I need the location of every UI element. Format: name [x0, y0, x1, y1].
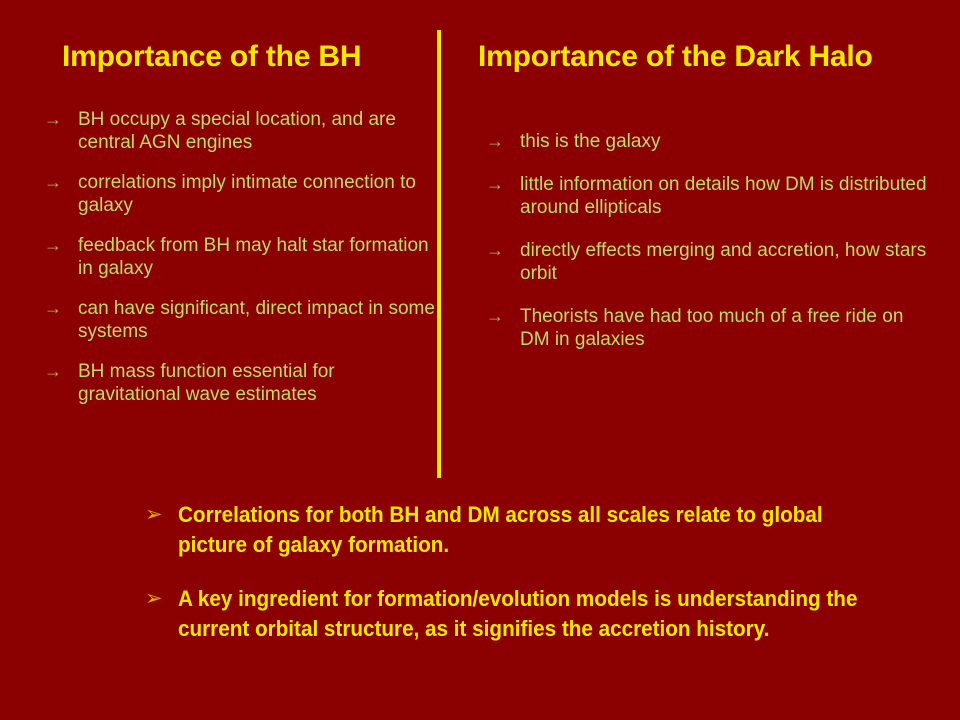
arrow-right-icon: →: [44, 108, 78, 131]
left-column-title: Importance of the BH: [62, 40, 361, 74]
list-item: → this is the galaxy: [486, 130, 936, 153]
presentation-slide: Importance of the BH Importance of the D…: [0, 0, 960, 720]
arrowhead-bullet-icon: ➢: [145, 500, 178, 530]
arrow-right-icon: →: [44, 171, 78, 194]
list-item-text: can have significant, direct impact in s…: [78, 297, 436, 343]
arrow-right-icon: →: [44, 297, 78, 320]
list-item: → Theorists have had too much of a free …: [486, 305, 936, 351]
list-item-text: Theorists have had too much of a free ri…: [520, 305, 936, 351]
arrow-right-icon: →: [44, 360, 78, 383]
list-item: → BH occupy a special location, and are …: [44, 108, 436, 154]
arrow-right-icon: →: [44, 234, 78, 257]
list-item-text: correlations imply intimate connection t…: [78, 171, 436, 217]
list-item: → directly effects merging and accretion…: [486, 239, 936, 285]
arrow-right-icon: →: [486, 130, 520, 153]
list-item-text: directly effects merging and accretion, …: [520, 239, 936, 285]
list-item: ➢ Correlations for both BH and DM across…: [145, 500, 905, 560]
list-item-text: Correlations for both BH and DM across a…: [178, 500, 861, 560]
list-item: → can have significant, direct impact in…: [44, 297, 436, 343]
arrow-right-icon: →: [486, 239, 520, 262]
list-item: ➢ A key ingredient for formation/evoluti…: [145, 584, 905, 644]
arrow-right-icon: →: [486, 305, 520, 328]
arrowhead-bullet-icon: ➢: [145, 584, 178, 614]
list-item-text: BH mass function essential for gravitati…: [78, 360, 436, 406]
right-column-title: Importance of the Dark Halo: [478, 40, 873, 74]
arrow-right-icon: →: [486, 173, 520, 196]
list-item-text: this is the galaxy: [520, 130, 936, 153]
list-item: → little information on details how DM i…: [486, 173, 936, 219]
right-column-bullet-list: → this is the galaxy → little informatio…: [486, 130, 936, 371]
list-item-text: A key ingredient for formation/evolution…: [178, 584, 861, 644]
list-item-text: feedback from BH may halt star formation…: [78, 234, 436, 280]
list-item: → BH mass function essential for gravita…: [44, 360, 436, 406]
list-item: → correlations imply intimate connection…: [44, 171, 436, 217]
left-column-bullet-list: → BH occupy a special location, and are …: [44, 108, 436, 423]
list-item: → feedback from BH may halt star formati…: [44, 234, 436, 280]
list-item-text: little information on details how DM is …: [520, 173, 936, 219]
conclusions-list: ➢ Correlations for both BH and DM across…: [145, 500, 905, 668]
list-item-text: BH occupy a special location, and are ce…: [78, 108, 436, 154]
vertical-divider: [437, 30, 441, 478]
